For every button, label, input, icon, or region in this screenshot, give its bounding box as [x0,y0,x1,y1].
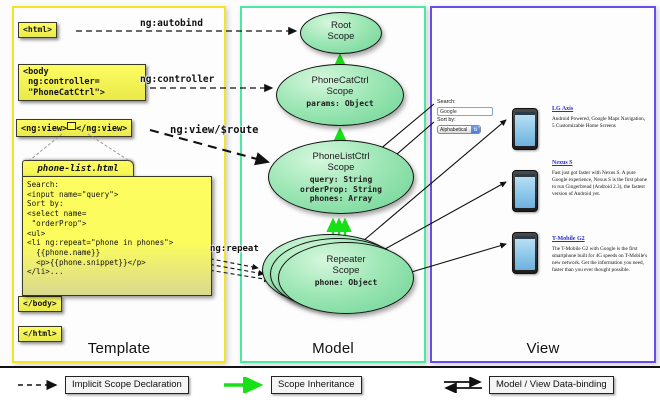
phone-name-link[interactable]: LG Axis [552,106,648,114]
phone-thumbnail-nexus-s [512,170,538,212]
double-arrow-icon [440,377,486,393]
phone-screen [515,112,535,146]
panel-model-label: Model [242,340,424,357]
scope-phonecatctrl: PhoneCatCtrl Scope params: Object [276,64,404,126]
phone-list-item-lg-axis: LG Axis Android Powered, Google Maps Nav… [552,106,648,130]
template-file-card: phone-list.html Search: <input name="que… [22,160,204,290]
legend-label-databinding: Model / View Data-binding [489,376,614,394]
phone-name-link[interactable]: Nexus S [552,160,648,168]
code-box-body-close: </body> [18,296,62,312]
green-arrow-icon [222,377,268,393]
template-file-code: Search: <input name="query"> Sort by: <s… [22,176,212,296]
phone-snippet: Fast just got faster with Nexus S. A pur… [552,170,648,198]
scope-phonelistctrl: PhoneListCtrl Scope query: String orderP… [268,140,414,214]
search-input[interactable]: Google [437,107,493,116]
panel-template-label: Template [14,340,224,357]
ngview-open-tag: <ng:view> [21,124,67,134]
phone-screen [515,174,535,208]
scope-phonelistctrl-title-2: Scope [269,163,413,174]
diagram-canvas: Template Model View [0,0,660,405]
dashed-arrow-icon [16,377,62,393]
legend-item-scope-inheritance: Scope Inheritance [222,376,362,396]
search-label: Search: [437,99,499,106]
ngview-placeholder-icon [67,122,76,130]
scope-phonecatctrl-props: params: Object [277,99,403,109]
legend-item-implicit-scope-declaration: Implicit Scope Declaration [16,376,189,396]
phone-name-link[interactable]: T-Mobile G2 [552,236,648,244]
sort-select[interactable]: Alphabetical ⇅ [437,125,481,134]
sort-label: Sort by: [437,117,499,124]
scope-repeater: Repeater Scope phone: Object [278,242,414,314]
phone-list-item-t-mobile-g2: T-Mobile G2 The T-Mobile G2 with Google … [552,236,648,274]
edge-label-autobind: ng:autobind [140,18,203,29]
scope-repeater-title-2: Scope [279,266,413,277]
legend-item-data-binding: Model / View Data-binding [440,376,614,396]
legend: Implicit Scope Declaration Scope Inherit… [0,366,660,407]
phone-thumbnail-lg-axis [512,108,538,150]
phone-status-bar [515,236,535,239]
scope-root: Root Scope [300,12,382,54]
edge-label-route: ng:view/$route [170,124,259,136]
code-box-body-open: <body ng:controller= "PhoneCatCtrl"> [18,64,146,101]
code-box-html-open: <html> [18,22,57,38]
phone-list-item-nexus-s: Nexus S Fast just got faster with Nexus … [552,160,648,198]
edge-label-controller: ng:controller [140,74,214,85]
browser-form: Search: Google Sort by: Alphabetical ⇅ [437,99,499,134]
legend-label-inheritance: Scope Inheritance [271,376,362,394]
ngview-close-tag: </ng:view> [76,124,127,134]
phone-screen [515,236,535,270]
legend-label-implicit: Implicit Scope Declaration [65,376,189,394]
sort-select-value: Alphabetical [440,127,467,133]
panel-view-label: View [432,340,654,357]
phone-snippet: The T-Mobile G2 with Google is the first… [552,246,648,274]
edge-label-repeat: ng:repeat [210,244,259,254]
phone-status-bar [515,174,535,177]
phone-status-bar [515,112,535,115]
scope-repeater-props: phone: Object [279,278,413,288]
code-box-html-close: </html> [18,326,62,342]
chevron-updown-icon: ⇅ [471,126,480,134]
phone-thumbnail-t-mobile-g2 [512,232,538,274]
phone-snippet: Android Powered, Google Maps Navigation,… [552,116,648,130]
scope-phonelistctrl-props: query: String orderProp: String phones: … [269,175,413,204]
code-box-ngview: <ng:view></ng:view> [16,119,132,137]
scope-root-title-2: Scope [301,32,381,43]
scope-phonecatctrl-title-2: Scope [277,87,403,98]
